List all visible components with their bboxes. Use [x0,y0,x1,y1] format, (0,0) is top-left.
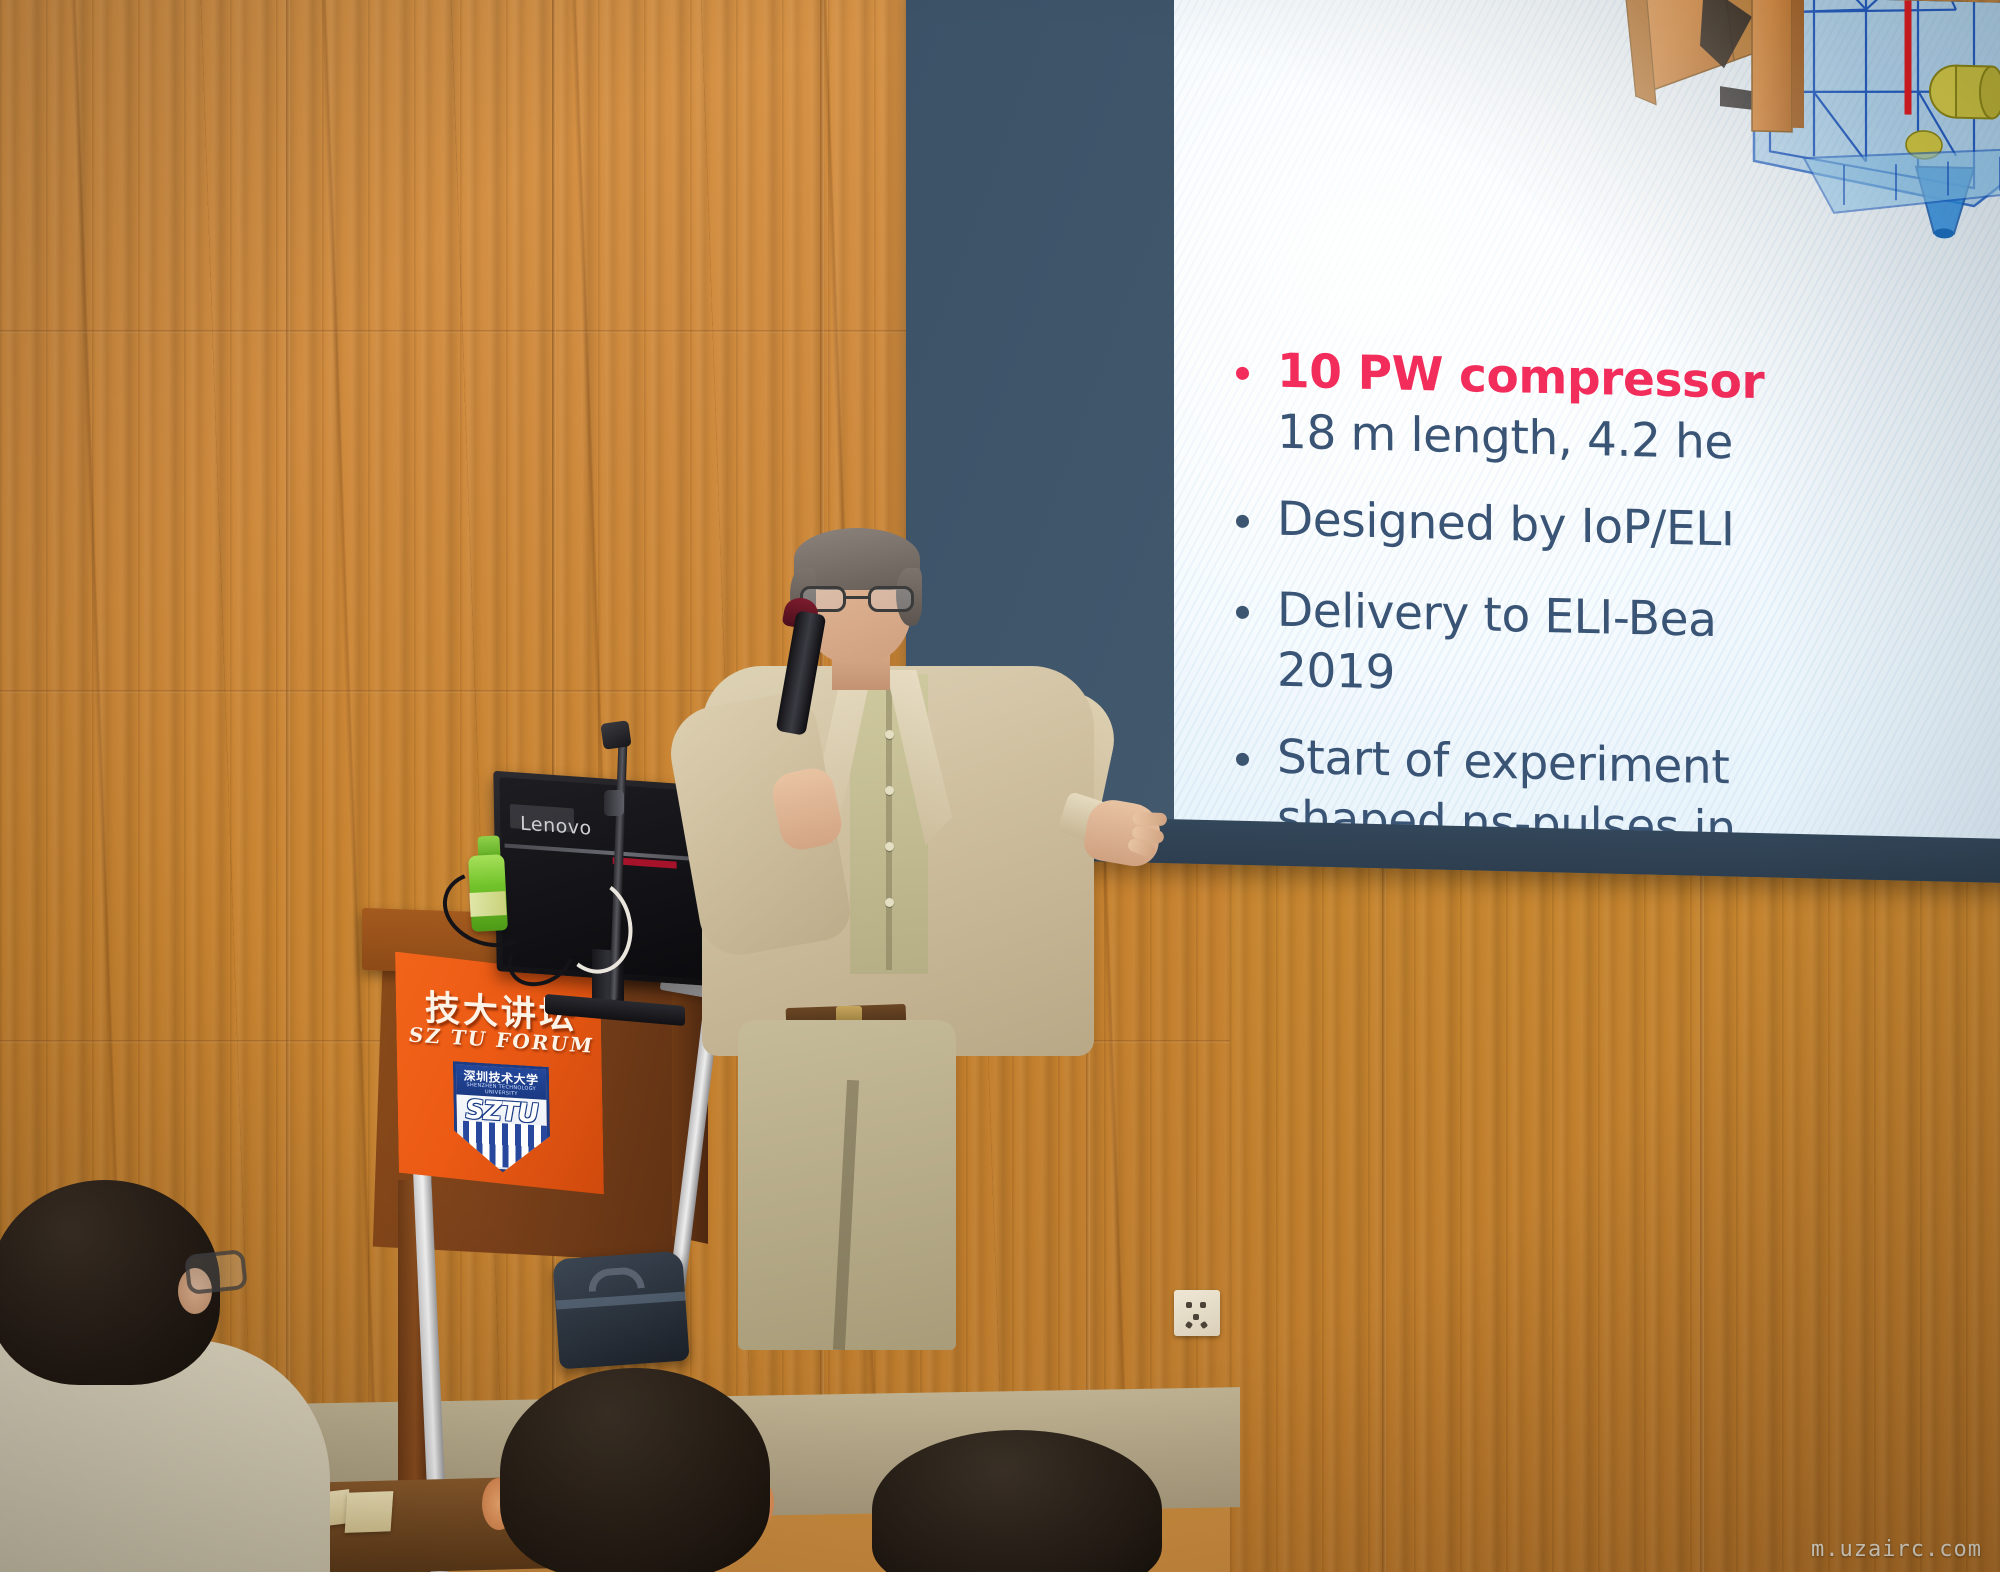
audience-member-head [500,1368,770,1572]
bullet-line: 10 PW compressor [1277,344,1764,412]
bullet-line: Start of experiment [1277,730,1729,798]
bullet-dot-icon [1236,514,1249,527]
gooseneck-microphone-head [600,720,631,750]
slide-bullet-list: 10 PW compressor 18 m length, 4.2 he Des… [1236,343,2000,883]
lecture-photo-scene: 10 PW compressor 18 m length, 4.2 he Des… [0,0,2000,1572]
podium-forum-sign: 技大讲坛 SZ TU FORUM 深圳技术大学 SHENZHEN TECHNOL… [395,952,604,1195]
wall-power-outlet [1174,1290,1220,1336]
shield-stripes [463,1121,548,1170]
bullet-dot-icon [1236,367,1249,380]
source-watermark: m.uzairc.com [1811,1537,1982,1562]
sztu-shield-logo: 深圳技术大学 SHENZHEN TECHNOLOGY UNIVERSITY SZ… [453,1061,551,1175]
bullet-line: Designed by IoP/ELI [1277,491,1735,559]
cad-compressor-chamber-figure [1504,0,2000,288]
gooseneck-microphone-joint [604,790,624,816]
projected-slide: 10 PW compressor 18 m length, 4.2 he Des… [1174,0,2000,865]
presenter [690,520,1110,1160]
desk-name-card [345,1491,394,1533]
bullet-line: Delivery to ELI-Bea [1277,582,1717,649]
bullet-dot-icon [1236,753,1249,766]
audience-member-eyeglasses [184,1249,248,1295]
bullet-dot-icon [1236,605,1249,618]
wall-panel-joint [286,0,290,1420]
